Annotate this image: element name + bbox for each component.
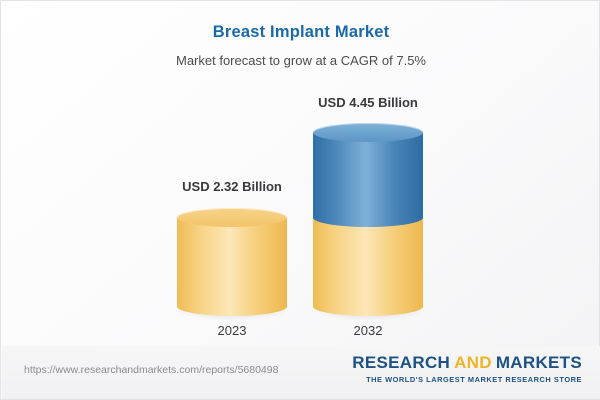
cylinder-2032-base-body	[313, 217, 423, 307]
cylinder-2032-growth-top-ellipse	[313, 123, 423, 142]
source-url-link[interactable]: https://www.researchandmarkets.com/repor…	[24, 364, 278, 376]
cylinder-2023-top-ellipse	[177, 208, 287, 227]
research-and-markets-logo[interactable]: RESEARCHANDMARKETS THE WORLD'S LARGEST M…	[352, 354, 582, 384]
cylinder-2032-growth-body	[313, 132, 423, 218]
chart-card: Breast Implant Market Market forecast to…	[0, 0, 600, 400]
logo-tagline: THE WORLD'S LARGEST MARKET RESEARCH STOR…	[352, 375, 582, 384]
category-label-2023: 2023	[157, 323, 307, 338]
logo-wordmark: RESEARCHANDMARKETS	[352, 354, 582, 372]
cylinder-2023[interactable]	[177, 208, 287, 313]
logo-text-markets: MARKETS	[496, 353, 582, 372]
cylinder-2023-body	[177, 217, 287, 307]
footer: https://www.researchandmarkets.com/repor…	[2, 346, 600, 399]
cylinder-2032-growth-base-ellipse	[313, 208, 423, 227]
logo-text-and: AND	[454, 353, 492, 372]
data-label-2032: USD 4.45 Billion	[253, 95, 483, 110]
category-label-2032: 2032	[293, 323, 443, 338]
logo-text-research: RESEARCH	[352, 353, 450, 372]
cylinder-2023-base-ellipse	[177, 297, 287, 316]
cylinder-2032-growth-segment[interactable]	[313, 123, 423, 227]
cylinder-2032-base-ellipse	[313, 297, 423, 316]
chart-plot-area: USD 2.32 Billion 2023 USD 4.45 Billion	[1, 1, 600, 346]
